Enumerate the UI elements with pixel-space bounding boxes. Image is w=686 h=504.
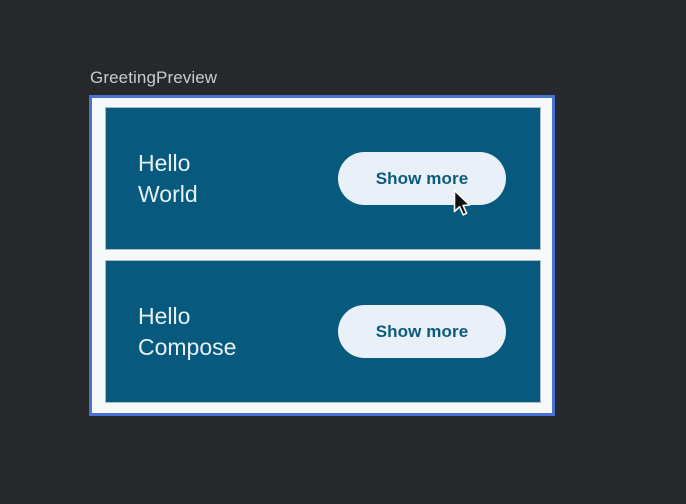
greeting-list: Hello World Show more Hello Compose Show… xyxy=(105,107,541,403)
greeting-card: Hello Compose Show more xyxy=(105,260,541,403)
show-more-button[interactable]: Show more xyxy=(338,152,506,205)
preview-surface: Hello World Show more Hello Compose Show… xyxy=(89,95,555,416)
greeting-text: Hello Compose xyxy=(138,301,338,363)
preview-stage: GreetingPreview Hello World Show more He… xyxy=(0,0,686,504)
page-title: GreetingPreview xyxy=(90,67,217,89)
greeting-card: Hello World Show more xyxy=(105,107,541,250)
show-more-button[interactable]: Show more xyxy=(338,305,506,358)
greeting-text: Hello World xyxy=(138,148,338,210)
